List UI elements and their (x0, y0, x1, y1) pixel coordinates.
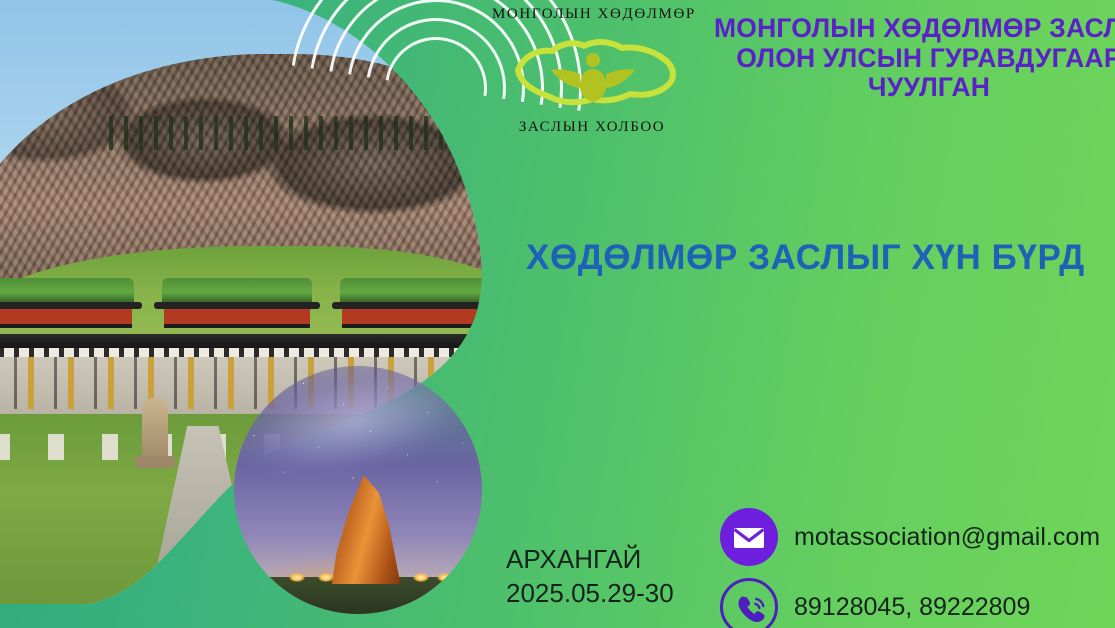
circle-photo (234, 366, 482, 614)
monastery-roof (340, 278, 490, 304)
heading-line-1: МОНГОЛЫН ХӨДӨЛМӨР ЗАСЛЫН (714, 14, 1115, 44)
contact-block: motassociation@gmail.com 89128045, 89222… (720, 508, 1100, 628)
phone-text: 89128045, 89222809 (794, 593, 1030, 622)
logo-top-text: МОНГОЛЫН ХӨДӨЛМӨР (492, 6, 692, 23)
contact-email-row[interactable]: motassociation@gmail.com (720, 508, 1100, 566)
monastery-roof (0, 278, 134, 304)
ground-light (413, 573, 429, 582)
envelope-icon (720, 508, 778, 566)
mongolia-map-icon (504, 30, 682, 114)
event-heading: МОНГОЛЫН ХӨДӨЛМӨР ЗАСЛЫН ОЛОН УЛСЫН ГУРА… (714, 14, 1115, 103)
ground-light (437, 573, 453, 582)
venue-location: АРХАНГАЙ (506, 542, 674, 576)
logo-bottom-text: ЗАСЛЫН ХОЛБОО (492, 119, 692, 136)
slogan-text: ХӨДӨЛМӨР ЗАСЛЫГ ХҮН БҮРД (526, 238, 1096, 278)
ground-light (318, 573, 334, 582)
contact-phone-row[interactable]: 89128045, 89222809 (720, 578, 1100, 628)
heading-line-2: ОЛОН УЛСЫН ГУРАВДУГААР (714, 44, 1115, 74)
venue-dates: 2025.05.29-30 (506, 576, 674, 610)
monastery-eave (0, 334, 494, 348)
association-logo: МОНГОЛЫН ХӨДӨЛМӨР ЗАСЛЫН ХОЛБОО (492, 6, 692, 138)
monastery-roof (162, 278, 312, 304)
photo-tree-line (104, 116, 494, 150)
ground-light (289, 573, 305, 582)
conference-poster: МОНГОЛЫН ХӨДӨЛМӨР ЗАСЛЫН ХОЛБОО МОНГОЛЫН… (0, 0, 1115, 628)
phone-icon (720, 578, 778, 628)
monastery-frieze (0, 348, 494, 357)
photo-stone-statue (142, 398, 168, 460)
venue-block: АРХАНГАЙ 2025.05.29-30 (506, 542, 674, 611)
email-text: motassociation@gmail.com (794, 523, 1100, 552)
heading-line-3: ЧУУЛГАН (714, 73, 1115, 103)
